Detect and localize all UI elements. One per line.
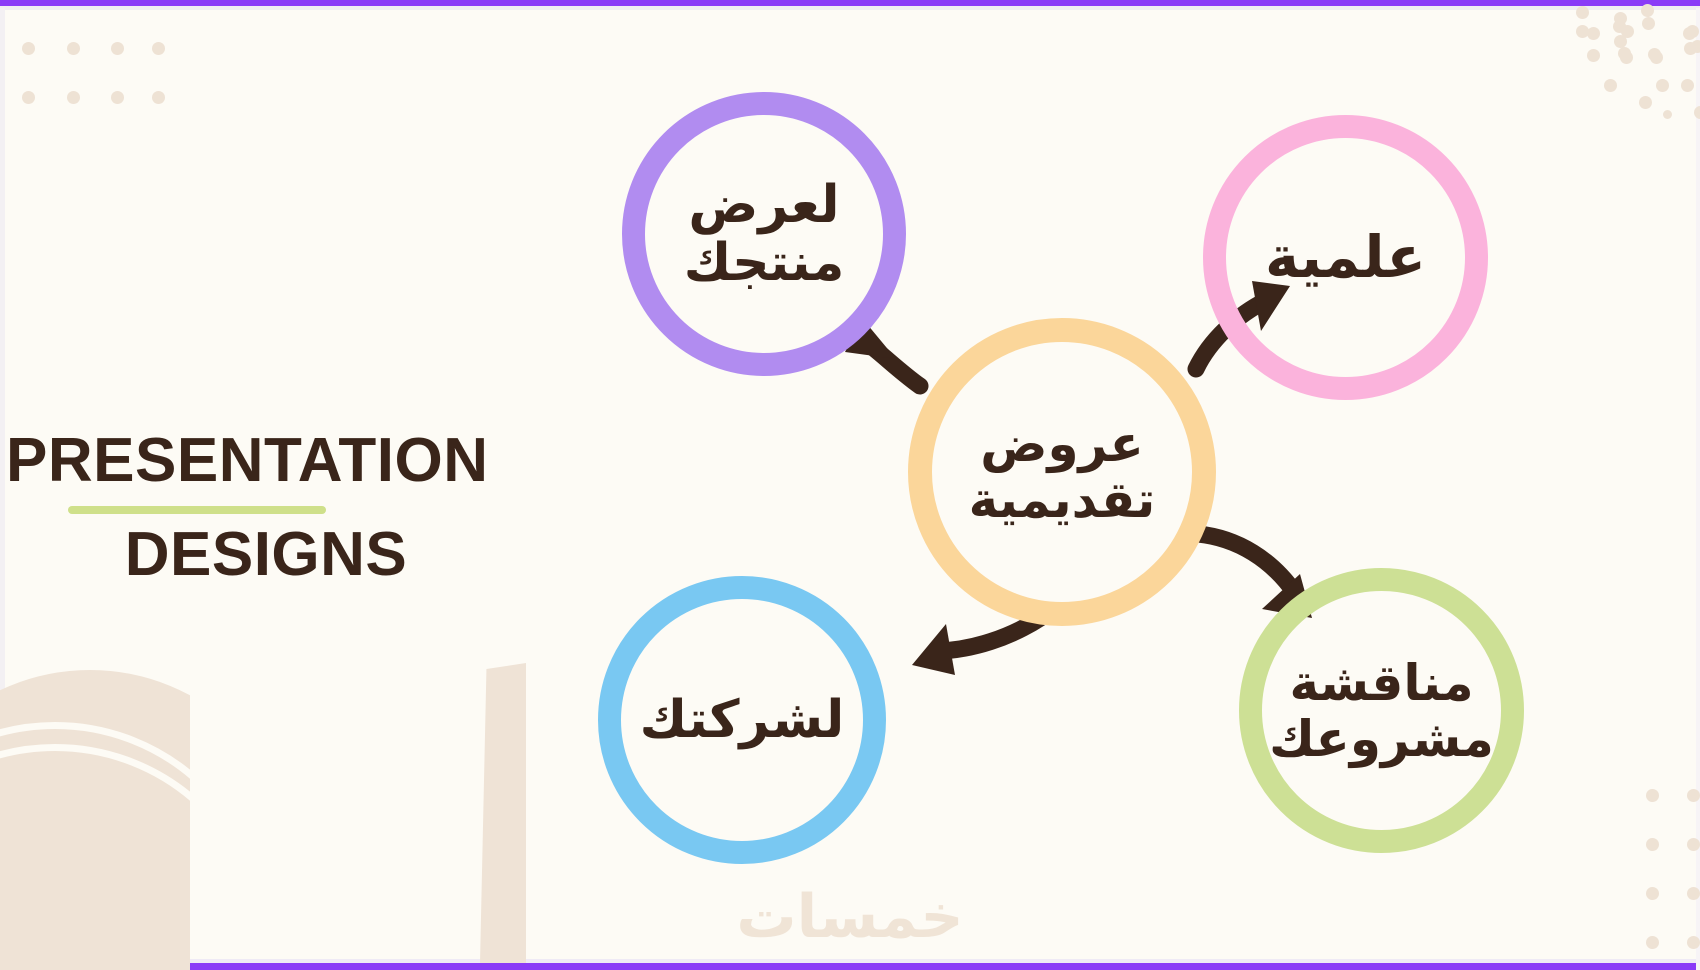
presentation-slide: PRESENTATION DESIGNS لعرض منتجك علمية لش…: [0, 0, 1700, 970]
title-line-2: DESIGNS: [0, 524, 470, 586]
node-blue-label: لشركتك: [630, 691, 855, 749]
node-green[interactable]: مناقشة مشروعك: [1239, 568, 1524, 853]
title-line-1: PRESENTATION: [0, 430, 470, 492]
node-pink-label: علمية: [1255, 225, 1436, 290]
node-purple[interactable]: لعرض منتجك: [622, 92, 906, 376]
right-edge-line: [1696, 8, 1700, 970]
page-title: PRESENTATION DESIGNS: [0, 430, 470, 586]
watermark: خمسات: [0, 882, 1700, 952]
node-center[interactable]: عروض تقديمية: [908, 318, 1216, 626]
arrow-to-green-shaft: [1198, 534, 1295, 593]
node-blue[interactable]: لشركتك: [598, 576, 886, 864]
top-accent-bar-shadow: [0, 6, 1700, 10]
arrow-to-blue-head: [912, 624, 955, 675]
bottom-accent-bar-shadow: [0, 959, 1700, 963]
title-divider: [68, 506, 326, 514]
arrow-to-blue-shaft: [938, 617, 1042, 651]
node-purple-label: لعرض منتجك: [645, 176, 883, 292]
node-pink[interactable]: علمية: [1203, 115, 1488, 400]
bottom-accent-bar: [0, 963, 1700, 970]
node-center-label: عروض تقديمية: [932, 416, 1192, 528]
node-green-label: مناقشة مشروعك: [1259, 655, 1504, 767]
arrow-to-purple-shaft: [862, 339, 920, 386]
